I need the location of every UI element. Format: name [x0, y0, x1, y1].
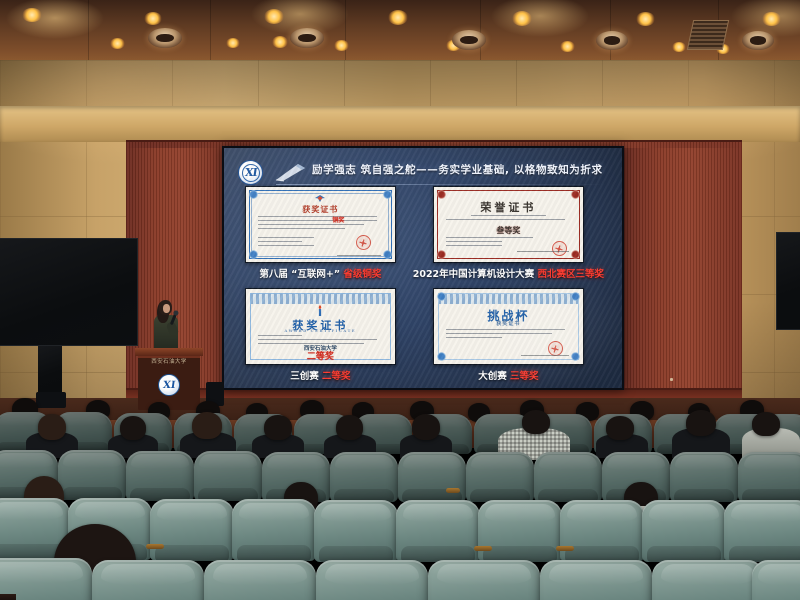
auditorium-seat [478, 500, 562, 562]
auditorium-seat [642, 500, 726, 562]
certificate-caption: 大创赛 三等奖 [478, 368, 538, 382]
wall-ledge [0, 106, 800, 142]
audience-head [336, 415, 363, 440]
auditorium-seat [652, 560, 764, 600]
ceiling-downlight [22, 8, 42, 22]
auditorium-seat [540, 560, 652, 600]
auditorium-seat [428, 560, 540, 600]
auditorium-seat [724, 500, 800, 562]
slide-title-underline [276, 184, 606, 185]
caption-red-part: 西北赛区三等奖 [537, 269, 604, 280]
certificate-body-lines [446, 215, 571, 223]
seat-armrest [146, 544, 164, 549]
ceiling-speaker [742, 31, 774, 50]
certificate-seal-icon [552, 241, 567, 256]
audience [0, 398, 800, 600]
auditorium-seat [316, 560, 428, 600]
logo-mark: XI [244, 167, 257, 178]
wall-display-left [0, 238, 138, 346]
auditorium-seat [752, 560, 800, 600]
podium-logo-icon: XI [158, 374, 180, 396]
certificate-caption: 第八届 “互联网+” 省级铜奖 [259, 266, 381, 280]
auditorium-seat [466, 452, 534, 502]
caption-white-part: 大创赛 [478, 371, 507, 382]
audience-head [192, 412, 222, 439]
ceiling-downlight [110, 38, 125, 49]
certificate-cell: 挑战杯 获奖证书 大创赛 三等奖 [413, 288, 604, 386]
audience-head [120, 416, 146, 440]
auditorium-seat [398, 452, 466, 502]
auditorium-seat [560, 500, 644, 562]
auditorium-seat [58, 450, 126, 500]
slide-title: 励学强志 筑自强之舵——务实学业基础, 以格物致知为折求 [312, 158, 614, 182]
presenter-face [163, 304, 170, 313]
audience-head [752, 412, 780, 436]
ceiling-speaker [148, 28, 182, 48]
caption-white-part: 三创赛 [290, 371, 319, 382]
certificate-prize: 铜奖 [323, 215, 353, 224]
auditorium-seat [396, 500, 480, 562]
audience-head [264, 415, 292, 440]
certificate-body-lines [258, 216, 383, 232]
certificate-seal-icon [356, 235, 371, 250]
audience-head [38, 414, 66, 440]
auditorium-seat [204, 560, 316, 600]
seat-armrest [556, 546, 574, 551]
auditorium-seat [92, 560, 204, 600]
certificate-caption: 2022年中国计算机设计大赛 西北赛区三等奖 [413, 266, 604, 280]
ceiling-downlight [636, 12, 655, 26]
certificate-image-top-right: 荣誉证书 叁等奖 [433, 186, 584, 263]
audience-head [522, 410, 550, 434]
torch-emblem-icon [316, 305, 325, 317]
ceiling-downlight [264, 9, 284, 24]
auditorium-seat [534, 452, 602, 502]
ceiling-speaker [452, 30, 486, 50]
auditorium-seat [738, 452, 800, 502]
audience-head [606, 416, 634, 440]
ceiling-air-vent [687, 20, 729, 50]
caption-red-part: 三等奖 [510, 371, 539, 382]
auditorium-seat [670, 452, 738, 502]
caption-red-part: 二等奖 [322, 371, 351, 382]
certificate-doc-subtitle: AWARD CERTIFICATE [246, 329, 395, 333]
audience-head [686, 410, 716, 436]
auditorium-photo: XI 励学强志 筑自强之舵——务实学业基础, 以格物致知为折求 [0, 0, 800, 600]
auditorium-seat [314, 500, 398, 562]
slide-header: XI 励学强志 筑自强之舵——务实学业基础, 以格物致知为折求 [224, 154, 622, 188]
audience-head [412, 414, 440, 440]
certificate-cell: 获奖证书 AWARD CERTIFICATE 西安石油大学 二等奖 三创赛 二等… [242, 288, 399, 386]
caption-white-part: 2022年中国计算机设计大赛 [413, 269, 534, 280]
ceiling [0, 0, 800, 62]
projection-screen: XI 励学强志 筑自强之舵——务实学业基础, 以格物致知为折求 [222, 146, 624, 390]
ceiling-downlight [560, 41, 575, 52]
podium-logo-mark: XI [162, 380, 176, 391]
certificate-cell: 获奖证书 铜奖 第八届 “互联网+” 省级铜奖 [242, 186, 399, 284]
certificate-doc-title: 荣誉证书 [434, 199, 583, 215]
ceiling-downlight [334, 40, 349, 51]
university-logo-icon: XI [238, 160, 263, 185]
auditorium-seat [194, 451, 262, 501]
certificate-doc-subtitle: 获奖证书 [434, 320, 583, 327]
certificate-image-bottom-right: 挑战杯 获奖证书 [433, 288, 584, 365]
auditorium-seat [330, 452, 398, 502]
certificate-seal-icon [548, 341, 563, 356]
wall-display-right [776, 232, 800, 330]
seat-armrest [446, 488, 460, 493]
certificate-grid: 获奖证书 铜奖 第八届 “互联网+” 省级铜奖 [224, 186, 622, 386]
ceiling-speaker [290, 28, 324, 48]
aisle-floor [0, 594, 16, 600]
auditorium-seat [126, 451, 194, 501]
certificate-signature-line [517, 251, 569, 252]
caption-red-part: 省级铜奖 [343, 269, 381, 280]
ceiling-downlight [672, 42, 686, 52]
ceiling-downlight [226, 38, 240, 48]
certificate-prize: 叁等奖 [434, 225, 583, 236]
certificate-image-top-left: 获奖证书 铜奖 [245, 186, 396, 263]
eagle-emblem-icon [314, 194, 326, 203]
certificate-doc-title: 获奖证书 [246, 204, 395, 215]
certificate-caption: 三创赛 二等奖 [290, 368, 350, 382]
ceiling-downlight [762, 12, 781, 26]
wall-display-left-lower [38, 346, 62, 392]
wood-wall-right [624, 140, 742, 405]
certificate-signature-line [337, 255, 381, 256]
certificate-cell: 荣誉证书 叁等奖 2022年中国计算机设计大赛 西北赛区三等奖 [413, 186, 604, 284]
podium-label: 西安石油大学 [138, 357, 200, 365]
auditorium-seat [150, 499, 234, 561]
auditorium-seat [232, 499, 316, 561]
ceiling-downlight [272, 36, 288, 48]
ceiling-speaker [596, 31, 628, 50]
ceiling-downlight [512, 11, 532, 26]
certificate-body-lines [446, 329, 571, 341]
caption-white-part: 第八届 “互联网+” [259, 269, 340, 280]
podium-top-surface [135, 348, 203, 356]
certificate-prize: 二等奖 [246, 349, 395, 362]
certificate-signature-line [521, 355, 569, 356]
wall-fixture-dot [670, 378, 673, 381]
ceiling-downlight [388, 10, 408, 25]
certificate-image-bottom-left: 获奖证书 AWARD CERTIFICATE 西安石油大学 二等奖 [245, 288, 396, 365]
seat-armrest [474, 546, 492, 551]
pen-nib-icon [274, 162, 308, 182]
ceiling-downlight [144, 12, 162, 25]
